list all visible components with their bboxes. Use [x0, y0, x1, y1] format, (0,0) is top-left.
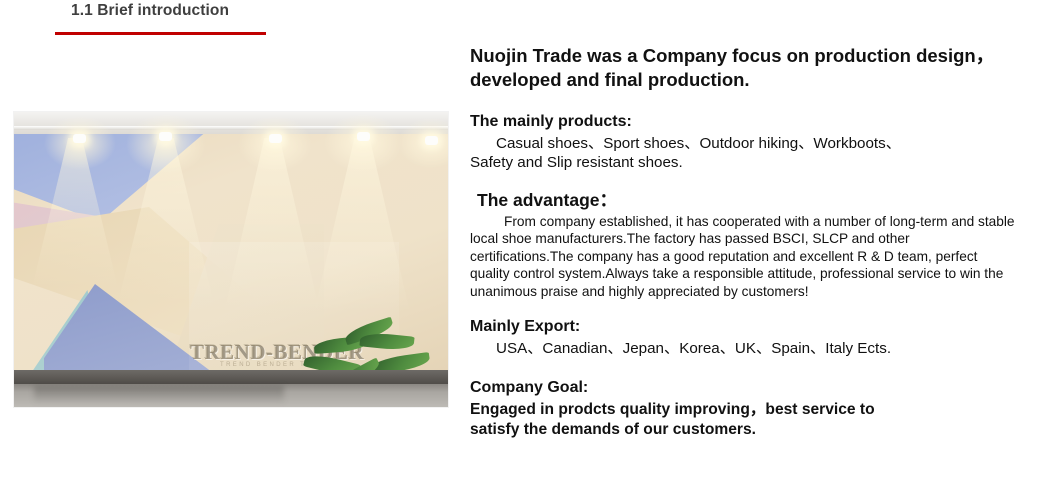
plant-leaf — [359, 331, 414, 352]
goal-line-1: Engaged in prodcts quality improving，bes… — [470, 400, 1015, 420]
photo-scene: TREND-BENDER TREND BENDER TRADE — [14, 112, 448, 407]
section-heading: 1.1 Brief introduction — [55, 2, 355, 35]
spacer — [470, 172, 1015, 189]
slide-root: 1.1 Brief introduction — [0, 0, 1060, 491]
light-glow-3 — [238, 116, 312, 172]
goal-heading: Company Goal: — [470, 378, 1015, 398]
company-lobby-photo: TREND-BENDER TREND BENDER TRADE — [14, 112, 448, 407]
export-body: USA、Canadian、Jepan、Korea、UK、Spain、Italy … — [470, 339, 1015, 358]
page-title: 1.1 Brief introduction — [55, 2, 355, 20]
floor-reflection — [34, 386, 284, 404]
headline: Nuojin Trade was a Company focus on prod… — [470, 44, 1015, 92]
spacer — [470, 358, 1015, 378]
light-glow-1 — [44, 116, 116, 170]
spacer — [470, 300, 1015, 317]
wall-baseboard — [14, 370, 448, 384]
export-heading: Mainly Export: — [470, 317, 1015, 337]
title-underline-rule — [55, 32, 266, 35]
products-line-2: Safety and Slip resistant shoes. — [470, 153, 1015, 172]
advantage-body: From company established, it has coopera… — [470, 213, 1015, 300]
products-heading: The mainly products: — [470, 112, 1015, 132]
goal-line-2: satisfy the demands of our customers. — [470, 420, 1015, 440]
introduction-copy: Nuojin Trade was a Company focus on prod… — [470, 44, 1015, 440]
advantage-heading: The advantage： — [470, 189, 1015, 211]
products-line-1: Casual shoes、Sport shoes、Outdoor hiking、… — [470, 134, 1015, 153]
track-light-4 — [357, 132, 370, 141]
light-glow-4 — [324, 114, 402, 172]
light-glow-2 — [126, 114, 206, 174]
track-light-3 — [269, 134, 282, 143]
track-light-5 — [425, 136, 438, 145]
track-light-1 — [73, 134, 86, 143]
track-light-2 — [159, 132, 172, 141]
